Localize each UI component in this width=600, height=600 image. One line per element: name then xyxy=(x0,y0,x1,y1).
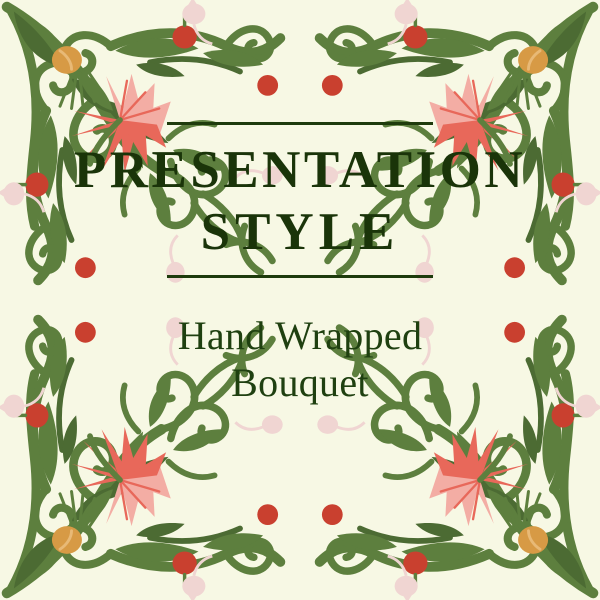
title-line-1: PRESENTATION xyxy=(74,141,526,199)
subtitle-line-1: Hand Wrapped xyxy=(0,312,600,359)
subtitle: Hand Wrapped Bouquet xyxy=(0,278,600,406)
subtitle-line-2: Bouquet xyxy=(0,359,600,406)
divider-rule-top xyxy=(167,122,433,125)
poster-text-block: PRESENTATION STYLE Hand Wrapped Bouquet xyxy=(0,122,600,406)
poster-canvas: PRESENTATION STYLE Hand Wrapped Bouquet xyxy=(0,0,600,600)
page-title: PRESENTATION xyxy=(0,139,600,201)
title-line-2: STYLE xyxy=(201,203,400,261)
page-title-second-line: STYLE xyxy=(0,201,600,263)
